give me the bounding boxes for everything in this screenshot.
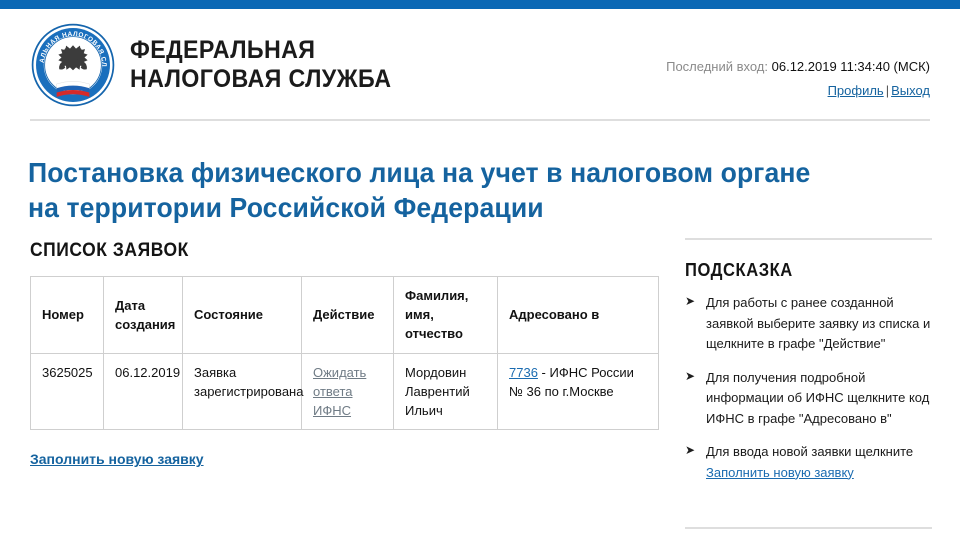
requests-section: СПИСОК ЗАЯВОК Номер Дата создания Состоя… [30,240,660,469]
arrow-bullet-icon: ➤ [685,367,695,386]
hint-new-request-link[interactable]: Заполнить новую заявку [706,465,854,480]
cell-fio: Мордовин Лаврентий Ильич [394,353,498,430]
cell-state: Заявка зарегистрирована [183,353,302,430]
session-links: Профиль|Выход [666,80,930,103]
brand-block: ФЕДЕРАЛЬНАЯ НАЛОГОВАЯ СЛУЖБА [30,22,411,108]
arrow-bullet-icon: ➤ [685,292,695,311]
cell-created: 06.12.2019 [104,353,183,430]
hint-bottom-divider [685,527,932,529]
link-separator: | [884,83,891,98]
hint-title: ПОДСКАЗКА [685,260,912,281]
logout-link[interactable]: Выход [891,83,930,98]
column-header-addressed: Адресовано в [498,277,659,354]
cell-number: 3625025 [31,353,104,430]
column-header-number: Номер [31,277,104,354]
arrow-bullet-icon: ➤ [685,441,695,460]
hint-top-divider [685,238,932,240]
column-header-action: Действие [302,277,394,354]
hint-item-2-text: Для получения подробной информации об ИФ… [706,370,929,426]
hint-item-1: ➤ Для работы с ранее созданной заявкой в… [685,293,932,355]
table-header-row: Номер Дата создания Состояние Действие Ф… [31,277,659,354]
column-header-fio: Фамилия, имя, отчество [394,277,498,354]
fns-emblem-icon: ФЕДЕРАЛЬНАЯ НАЛОГОВАЯ СЛУЖБА [30,22,116,108]
last-login-line: Последний вход: 06.12.2019 11:34:40 (МСК… [666,56,930,79]
requests-table: Номер Дата создания Состояние Действие Ф… [30,276,659,430]
table-row[interactable]: 3625025 06.12.2019 Заявка зарегистрирова… [31,353,659,430]
profile-link[interactable]: Профиль [828,83,884,98]
column-header-created: Дата создания [104,277,183,354]
new-request-link[interactable]: Заполнить новую заявку [30,451,204,467]
header-divider [30,119,930,121]
hint-item-1-text: Для работы с ранее созданной заявкой выб… [706,295,930,351]
section-title-requests: СПИСОК ЗАЯВОК [30,240,610,262]
session-info: Последний вход: 06.12.2019 11:34:40 (МСК… [666,56,930,103]
last-login-label: Последний вход: [666,59,768,74]
cell-addressed: 7736 - ИФНС России № 36 по г.Москве [498,353,659,430]
brand-title: ФЕДЕРАЛЬНАЯ НАЛОГОВАЯ СЛУЖБА [130,36,391,95]
hint-item-3: ➤ Для ввода новой заявки щелкните Заполн… [685,442,932,483]
hint-list: ➤ Для работы с ранее созданной заявкой в… [685,293,932,483]
top-accent-bar [0,0,960,9]
ifns-code-link[interactable]: 7736 [509,365,538,380]
site-header: ФЕДЕРАЛЬНАЯ НАЛОГОВАЯ СЛУЖБА [0,9,960,111]
hint-item-2: ➤ Для получения подробной информации об … [685,368,932,430]
action-link-wait-ifns[interactable]: Ожидать ответа ИФНС [313,365,366,418]
last-login-value: 06.12.2019 11:34:40 (МСК) [772,59,930,74]
hint-section: ПОДСКАЗКА ➤ Для работы с ранее созданной… [685,238,932,496]
page-title: Постановка физического лица на учет в на… [28,155,845,226]
hint-item-3-text: Для ввода новой заявки щелкните [706,444,913,459]
column-header-state: Состояние [183,277,302,354]
cell-action: Ожидать ответа ИФНС [302,353,394,430]
